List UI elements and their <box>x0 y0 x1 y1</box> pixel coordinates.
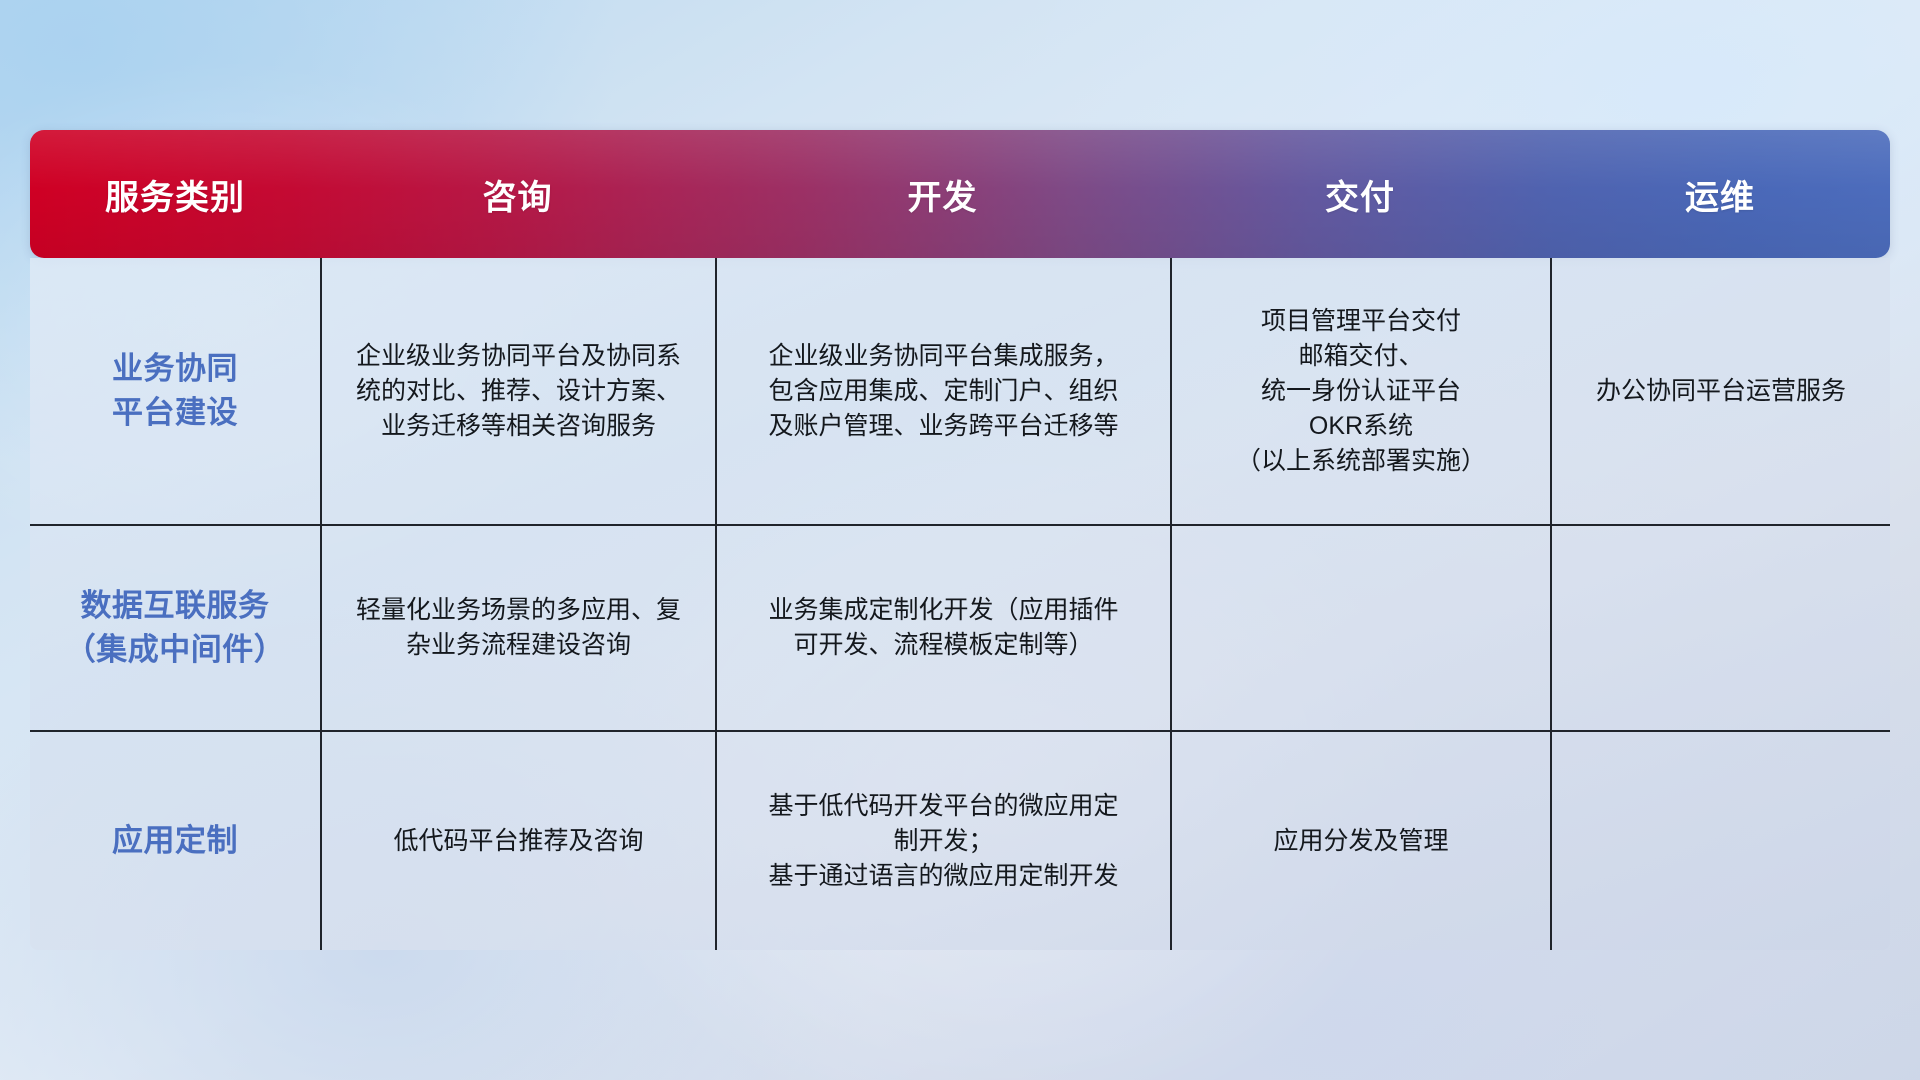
table-header-row: 服务类别 咨询 开发 交付 运维 <box>30 130 1890 258</box>
table-body: 业务协同 平台建设 企业级业务协同平台及协同系 统的对比、推荐、设计方案、 业务… <box>30 258 1890 950</box>
column-header-category: 服务类别 <box>30 170 320 219</box>
cell-development: 基于低代码开发平台的微应用定 制开发； 基于通过语言的微应用定制开发 <box>715 732 1170 950</box>
cell-consulting: 低代码平台推荐及咨询 <box>320 732 715 950</box>
column-header-operations: 运维 <box>1550 170 1890 219</box>
cell-operations <box>1550 526 1890 730</box>
row-category-cell: 应用定制 <box>30 732 320 950</box>
table-row: 应用定制 低代码平台推荐及咨询 基于低代码开发平台的微应用定 制开发； 基于通过… <box>30 730 1890 950</box>
cell-operations: 办公协同平台运营服务 <box>1550 258 1890 524</box>
table-row: 业务协同 平台建设 企业级业务协同平台及协同系 统的对比、推荐、设计方案、 业务… <box>30 258 1890 524</box>
row-category-label: 数据互联服务 （集成中间件） <box>65 584 286 672</box>
cell-delivery: 项目管理平台交付 邮箱交付、 统一身份认证平台 OKR系统 （以上系统部署实施） <box>1170 258 1550 524</box>
row-category-label: 业务协同 平台建设 <box>112 347 238 435</box>
cell-development: 业务集成定制化开发（应用插件 可开发、流程模板定制等） <box>715 526 1170 730</box>
column-header-consulting: 咨询 <box>320 170 715 219</box>
service-matrix-table: 服务类别 咨询 开发 交付 运维 业务协同 平台建设 企业级业务协同平台及协同系… <box>30 130 1890 950</box>
column-header-development: 开发 <box>715 170 1170 219</box>
row-category-cell: 数据互联服务 （集成中间件） <box>30 526 320 730</box>
column-header-delivery: 交付 <box>1170 170 1550 219</box>
row-category-cell: 业务协同 平台建设 <box>30 258 320 524</box>
cell-operations <box>1550 732 1890 950</box>
cell-consulting: 企业级业务协同平台及协同系 统的对比、推荐、设计方案、 业务迁移等相关咨询服务 <box>320 258 715 524</box>
cell-consulting: 轻量化业务场景的多应用、复 杂业务流程建设咨询 <box>320 526 715 730</box>
table-row: 数据互联服务 （集成中间件） 轻量化业务场景的多应用、复 杂业务流程建设咨询 业… <box>30 524 1890 730</box>
row-category-label: 应用定制 <box>112 819 238 863</box>
cell-delivery: 应用分发及管理 <box>1170 732 1550 950</box>
cell-development: 企业级业务协同平台集成服务， 包含应用集成、定制门户、组织 及账户管理、业务跨平… <box>715 258 1170 524</box>
cell-delivery <box>1170 526 1550 730</box>
